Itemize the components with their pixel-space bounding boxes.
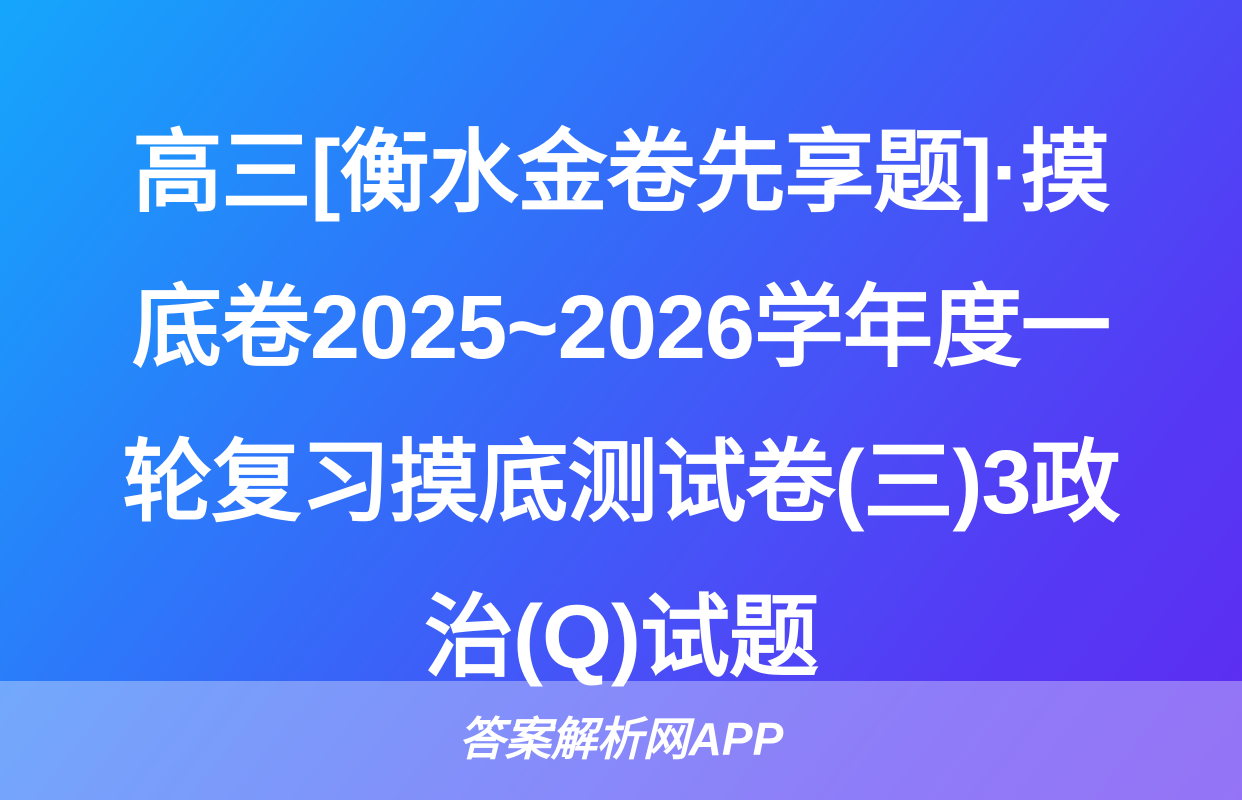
watermark-brand-label: 答案解析网APP [459,716,784,762]
poster-canvas: 高三[衡水金卷先享题]·摸底卷2025~2026学年度一轮复习摸底测试卷(三)3… [0,0,1242,800]
page-title: 高三[衡水金卷先享题]·摸底卷2025~2026学年度一轮复习摸底测试卷(三)3… [0,96,1242,716]
watermark-band: 答案解析网APP [0,681,1242,800]
